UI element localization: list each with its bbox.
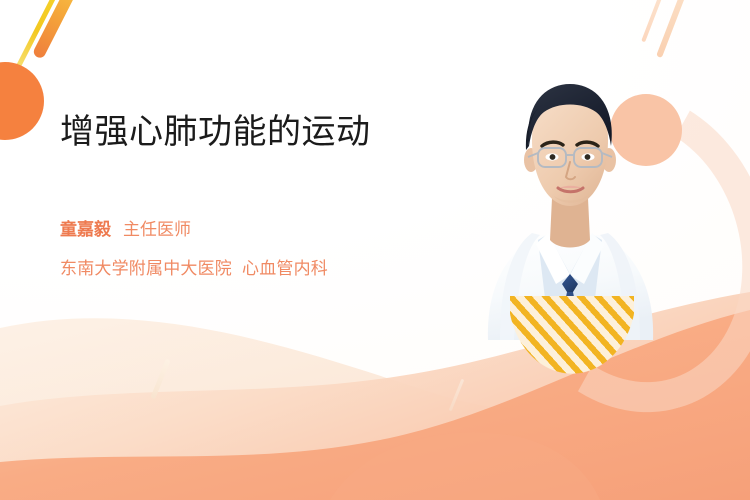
department-name: 心血管内科 (242, 259, 328, 278)
video-cover-card: 增强心肺功能的运动 童嘉毅主任医师 东南大学附属中大医院心血管内科 (0, 0, 750, 500)
page-title: 增强心肺功能的运动 (60, 112, 390, 153)
doctor-name: 童嘉毅 (60, 220, 111, 239)
doctor-affiliation: 东南大学附属中大医院心血管内科 (60, 254, 410, 279)
doctor-byline: 童嘉毅主任医师 (60, 215, 410, 240)
doctor-professional-title: 主任医师 (123, 220, 191, 239)
cover-text-block: 增强心肺功能的运动 童嘉毅主任医师 东南大学附属中大医院心血管内科 (60, 112, 410, 279)
hospital-name: 东南大学附属中大医院 (60, 259, 232, 278)
